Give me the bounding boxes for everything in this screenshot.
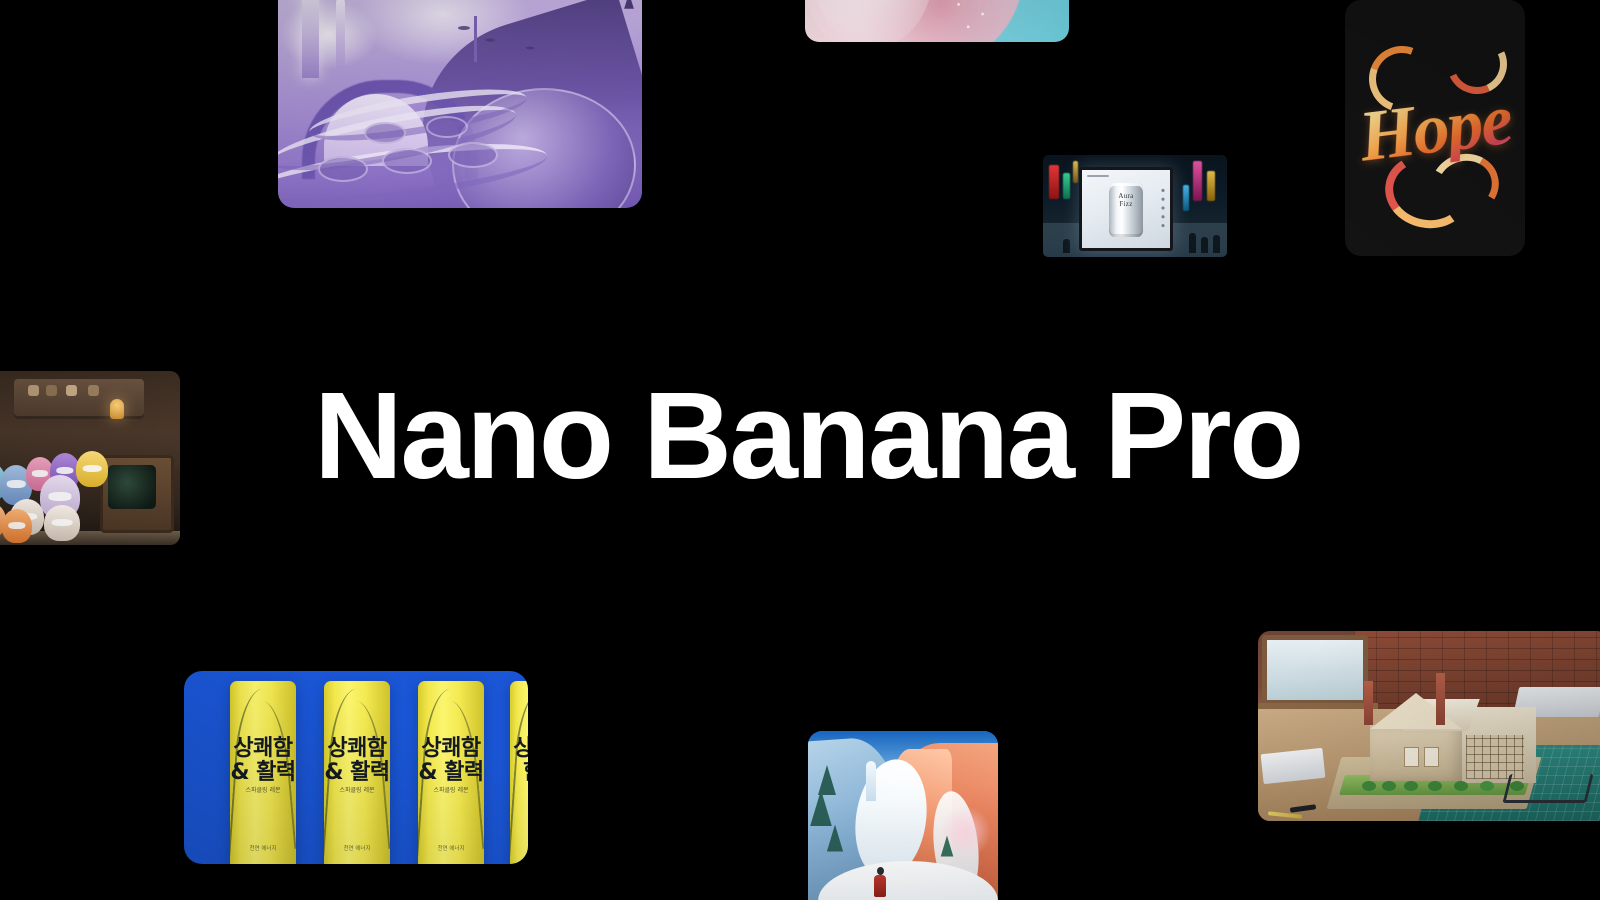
hope-lettering-wrapper: Hope <box>1345 0 1525 256</box>
monster-creature <box>44 505 80 541</box>
lamp-icon <box>110 399 124 419</box>
can-sub-label: 스파클링 레몬 <box>230 787 296 795</box>
neon-sign-shape <box>1063 173 1070 199</box>
pottery-item <box>46 385 57 396</box>
model-chimney <box>1364 681 1373 725</box>
pedestrian-silhouette <box>1213 235 1220 253</box>
model-chimney <box>1436 673 1445 725</box>
neon-sign-shape <box>1207 171 1215 201</box>
model-window <box>1424 747 1439 767</box>
soda-can: 상쾌함 <box>510 681 528 864</box>
vintage-tv <box>100 455 174 533</box>
tv-screen <box>108 465 156 509</box>
soda-can: 상쾌함 & 활력 스파클링 레몬 천연 에너지 <box>230 681 296 864</box>
pink-feather-card[interactable] <box>805 0 1069 42</box>
neon-sign-shape <box>1073 161 1078 183</box>
pottery-item <box>88 385 99 396</box>
soda-can: 상쾌함 & 활력 스파클링 레몬 천연 에너지 <box>324 681 390 864</box>
pottery-item <box>28 385 39 396</box>
traveler-cloak <box>874 875 886 897</box>
pedestrian-silhouette <box>1063 239 1070 253</box>
can-sub-label: 스파클링 레몬 <box>324 787 390 795</box>
landscape-plot-shape <box>382 148 432 174</box>
can-sub-label: 스파클링 레몬 <box>418 787 484 795</box>
neon-sign-shape <box>1183 185 1189 211</box>
billboard-ui-dots <box>1161 188 1165 228</box>
coping-saw-tool <box>1502 774 1593 803</box>
can-label-line2: & 활력 <box>230 761 296 785</box>
hero-stage: AuraFizz Hope <box>0 0 1600 900</box>
model-shrub <box>1428 781 1442 791</box>
aura-fizz-label-line2: Fizz <box>1119 200 1132 208</box>
model-shrub <box>1454 781 1468 791</box>
landscape-plot-shape <box>364 122 406 144</box>
pine-tree-icon <box>810 790 832 826</box>
landscape-tree-icon <box>624 0 634 9</box>
traveler-figure <box>874 867 886 897</box>
aura-fizz-label: AuraFizz <box>1082 192 1170 208</box>
soda-can: 상쾌함 & 활력 스파클링 레몬 천연 에너지 <box>418 681 484 864</box>
snow-canyon-traveler-card[interactable] <box>808 731 998 900</box>
model-window <box>1404 747 1419 767</box>
model-shrub <box>1362 781 1376 791</box>
landscape-bird-icon <box>458 26 470 30</box>
landscape-plot-shape <box>426 116 468 138</box>
landscape-plot-shape <box>318 156 368 182</box>
model-gable <box>1370 693 1462 729</box>
can-foot-label: 천연 에너지 <box>418 846 484 853</box>
billboard-header-bar <box>1087 175 1109 177</box>
model-shrub <box>1480 781 1494 791</box>
model-shrub <box>1382 781 1396 791</box>
snow-spire-shape <box>866 761 876 801</box>
purple-fantasy-landscape-card[interactable] <box>278 0 642 208</box>
can-label-line1: 상쾌함 <box>230 737 296 761</box>
hope-lettering-card[interactable]: Hope <box>1345 0 1525 256</box>
neon-sign-shape <box>1049 165 1059 199</box>
korean-soda-cans-card[interactable]: 상쾌함 & 활력 스파클링 레몬 천연 에너지 상쾌함 & 활력 스파클링 레몬… <box>184 671 528 864</box>
traveler-head <box>877 867 884 875</box>
pine-tree-icon <box>827 825 843 852</box>
architectural-model-card[interactable] <box>1258 631 1600 821</box>
page-title: Nano Banana Pro <box>314 372 1274 502</box>
can-label-line1: 상쾌함 <box>510 737 528 785</box>
can-label-line2: & 활력 <box>418 761 484 785</box>
can-label-line2: & 활력 <box>324 761 390 785</box>
pine-tree-icon <box>941 836 954 857</box>
model-window-grid <box>1466 735 1524 779</box>
aura-fizz-billboard-card[interactable]: AuraFizz <box>1043 155 1227 257</box>
can-foot-label: 천연 에너지 <box>230 846 296 853</box>
landscape-tower-icon <box>302 0 319 78</box>
landscape-bird-icon <box>485 38 495 41</box>
hope-word-text: Hope <box>1355 83 1515 173</box>
pedestrian-silhouette <box>1189 233 1196 253</box>
model-shrub <box>1404 781 1418 791</box>
landscape-tower-secondary-icon <box>336 0 345 68</box>
neon-sign-shape <box>1193 161 1202 201</box>
fuzzy-monsters-card[interactable] <box>0 371 180 545</box>
pottery-item <box>66 385 77 396</box>
billboard-panel: AuraFizz <box>1079 167 1173 251</box>
monster-creature <box>76 451 108 487</box>
monster-creature <box>2 509 32 543</box>
can-foot-label: 천연 에너지 <box>324 846 390 853</box>
billboard-screen: AuraFizz <box>1082 170 1170 248</box>
workshop-window <box>1262 635 1368 705</box>
can-label-line1: 상쾌함 <box>324 737 390 761</box>
pedestrian-silhouette <box>1201 237 1208 253</box>
aura-fizz-label-line1: Aura <box>1118 192 1133 200</box>
landscape-spire-icon <box>474 16 477 62</box>
can-label-line1: 상쾌함 <box>418 737 484 761</box>
landscape-bird-icon <box>526 47 534 50</box>
landscape-plot-shape <box>448 142 498 168</box>
